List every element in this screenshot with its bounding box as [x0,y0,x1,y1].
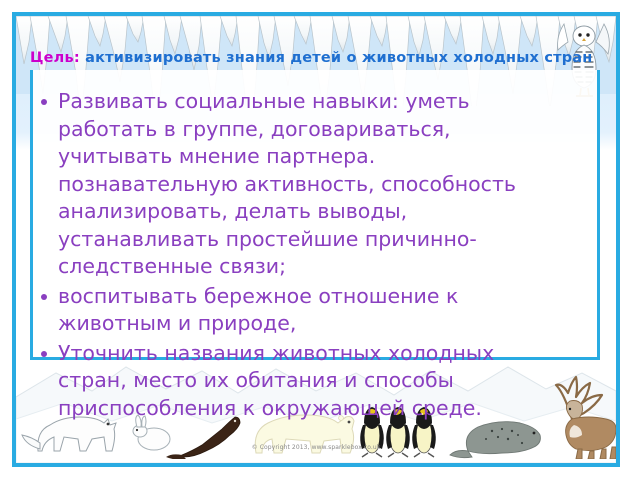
copyright-notice: © Copyright 2013, www.sparklebox.co.uk [16,444,616,451]
seal-icon [450,422,540,458]
objectives-list: Развивать социальные навыки: уметь работ… [38,88,548,424]
page-title-label: Цель: [30,50,80,66]
bullet-dot-icon [41,294,47,300]
bullet-dot-icon [41,351,47,357]
bullet-dot-icon [41,99,47,105]
list-item: Уточнить названия животных холодных стра… [38,340,548,423]
slide-canvas: © Copyright 2013, www.sparklebox.co.uk Ц… [0,0,640,480]
list-item-text: воспитывать бережное отношение к животны… [58,283,548,338]
page-title: Цель: активизировать знания детей о живо… [30,47,605,69]
list-item: воспитывать бережное отношение к животны… [38,283,548,338]
list-item: Развивать социальные навыки: уметь работ… [38,88,548,281]
list-item-text: Развивать социальные навыки: уметь работ… [58,88,548,281]
page-title-text: активизировать знания детей о животных х… [85,50,592,66]
list-item-text: Уточнить названия животных холодных стра… [58,340,548,423]
